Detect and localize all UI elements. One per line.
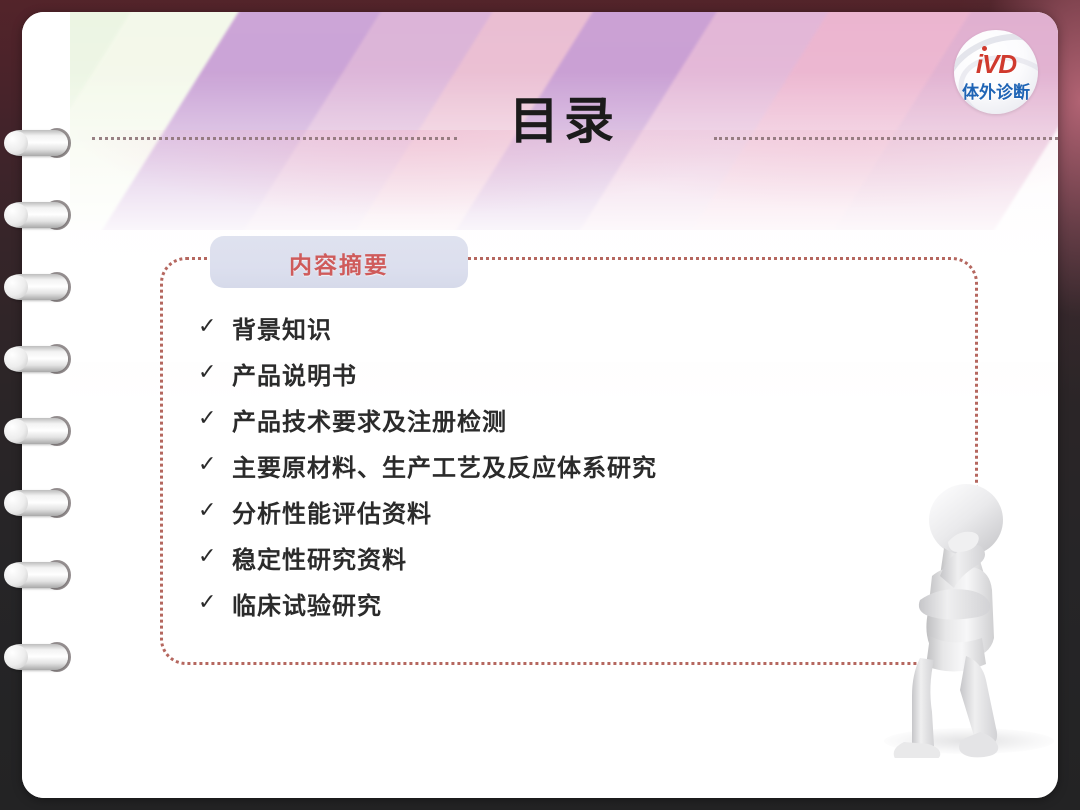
list-item[interactable]: ✓ 主要原材料、生产工艺及反应体系研究 (198, 442, 898, 488)
check-icon: ✓ (198, 545, 232, 567)
binder-ring (6, 130, 68, 156)
title-row: 目录 (70, 90, 1058, 160)
list-item[interactable]: ✓ 背景知识 (198, 304, 898, 350)
list-item-label: 临床试验研究 (232, 586, 382, 621)
binder-ring (6, 490, 68, 516)
check-icon: ✓ (198, 361, 232, 383)
binder-ring (6, 644, 68, 670)
list-item[interactable]: ✓ 产品技术要求及注册检测 (198, 396, 898, 442)
ivd-logo: iVD 体外诊断 (954, 30, 1038, 114)
list-item-label: 产品说明书 (232, 356, 357, 391)
binder-ring (6, 274, 68, 300)
check-icon: ✓ (198, 591, 232, 613)
slide-page: 目录 iVD 体外诊断 内容摘要 ✓ 背景知识 ✓ 产品说明书 (22, 12, 1058, 798)
check-icon: ✓ (198, 453, 232, 475)
binder-ring (6, 346, 68, 372)
check-icon: ✓ (198, 407, 232, 429)
list-item-label: 稳定性研究资料 (232, 540, 407, 575)
binder-ring (6, 562, 68, 588)
binder-ring (6, 418, 68, 444)
summary-header-pill: 内容摘要 (210, 236, 468, 288)
list-item[interactable]: ✓ 产品说明书 (198, 350, 898, 396)
list-item-label: 主要原材料、生产工艺及反应体系研究 (232, 448, 657, 483)
page-title: 目录 (70, 90, 1058, 152)
summary-header-label: 内容摘要 (210, 246, 468, 280)
check-icon: ✓ (198, 499, 232, 521)
list-item-label: 产品技术要求及注册检测 (232, 402, 507, 437)
slide-frame: 目录 iVD 体外诊断 内容摘要 ✓ 背景知识 ✓ 产品说明书 (0, 0, 1080, 810)
list-item[interactable]: ✓ 稳定性研究资料 (198, 534, 898, 580)
list-item[interactable]: ✓ 临床试验研究 (198, 580, 898, 626)
list-item-label: 分析性能评估资料 (232, 494, 432, 529)
logo-subtitle-text: 体外诊断 (954, 78, 1038, 103)
list-item-label: 背景知识 (232, 310, 332, 345)
binder-ring (6, 202, 68, 228)
logo-brand-text: iVD (954, 49, 1038, 80)
thinking-mannequin-figure (888, 480, 1038, 758)
check-icon: ✓ (198, 315, 232, 337)
list-item[interactable]: ✓ 分析性能评估资料 (198, 488, 898, 534)
toc-list: ✓ 背景知识 ✓ 产品说明书 ✓ 产品技术要求及注册检测 ✓ 主要原材料、生产工… (198, 304, 898, 626)
